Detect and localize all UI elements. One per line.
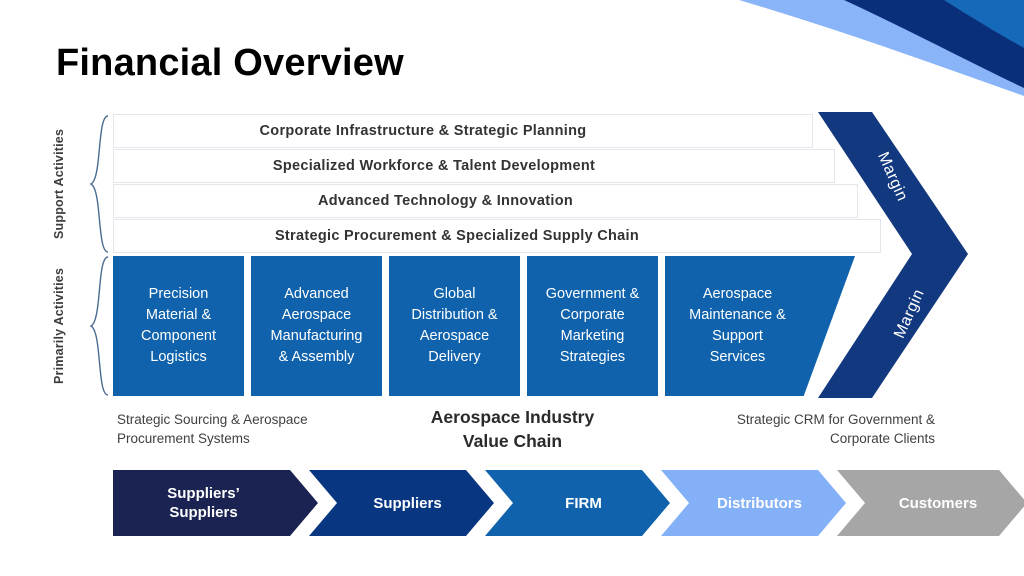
support-activity-row[interactable]: Strategic Procurement & Specialized Supp…	[113, 219, 881, 253]
flow-step-label: FIRM	[491, 494, 676, 513]
support-activity-label: Specialized Workforce & Talent Developme…	[273, 158, 595, 174]
caption-left: Strategic Sourcing & Aerospace Procureme…	[117, 410, 377, 448]
axis-label-primary-activities: Primarily Activities	[52, 256, 70, 396]
primary-activity-box[interactable]: Advanced Aerospace Manufacturing & Assem…	[251, 256, 382, 396]
flow-step-suppliers-suppliers[interactable]: Suppliers’ Suppliers	[113, 470, 318, 536]
brace-support-icon	[88, 114, 110, 254]
page-title: Financial Overview	[56, 40, 404, 86]
flow-step-customers[interactable]: Customers	[837, 470, 1024, 536]
caption-center-title: Aerospace Industry Value Chain	[400, 405, 625, 453]
primary-activity-label: Advanced Aerospace Manufacturing & Assem…	[271, 284, 363, 368]
primary-activity-label: Global Distribution & Aerospace Delivery	[411, 284, 497, 368]
support-activities-group: Corporate Infrastructure & Strategic Pla…	[113, 114, 903, 254]
swoosh-navy-band	[844, 0, 1024, 88]
primary-activities-group: Precision Material & Component Logistics…	[113, 256, 873, 396]
primary-activity-label: Aerospace Maintenance & Support Services	[675, 284, 800, 368]
primary-activity-label: Government & Corporate Marketing Strateg…	[546, 284, 640, 368]
support-activity-label: Advanced Technology & Innovation	[318, 193, 573, 209]
primary-activity-box[interactable]: Precision Material & Component Logistics	[113, 256, 244, 396]
swoosh-light-band	[739, 0, 1024, 96]
swoosh-blue-band	[944, 0, 1024, 48]
axis-label-support-activities: Support Activities	[52, 115, 70, 253]
support-activity-row[interactable]: Advanced Technology & Innovation	[113, 184, 858, 218]
support-activity-label: Corporate Infrastructure & Strategic Pla…	[260, 123, 587, 139]
margin-arrow-icon	[800, 110, 1000, 400]
flow-step-suppliers[interactable]: Suppliers	[309, 470, 494, 536]
support-activity-row[interactable]: Specialized Workforce & Talent Developme…	[113, 149, 835, 183]
slide-canvas: Financial Overview Support Activities Pr…	[0, 0, 1024, 576]
decorative-swoosh	[694, 0, 1024, 115]
caption-right: Strategic CRM for Government & Corporate…	[690, 410, 935, 448]
brace-primary-icon	[88, 255, 110, 397]
flow-step-label: Suppliers	[315, 494, 500, 513]
flow-step-label: Suppliers’ Suppliers	[101, 484, 306, 522]
flow-step-distributors[interactable]: Distributors	[661, 470, 846, 536]
support-activity-label: Strategic Procurement & Specialized Supp…	[275, 228, 639, 244]
flow-step-label: Customers	[843, 494, 1024, 513]
primary-activity-box[interactable]: Government & Corporate Marketing Strateg…	[527, 256, 658, 396]
flow-step-firm[interactable]: FIRM	[485, 470, 670, 536]
flow-step-label: Distributors	[667, 494, 852, 513]
support-activity-row[interactable]: Corporate Infrastructure & Strategic Pla…	[113, 114, 813, 148]
value-chain-flow: Suppliers’ Suppliers Suppliers FIRM Dist…	[113, 470, 968, 536]
primary-activity-box[interactable]: Global Distribution & Aerospace Delivery	[389, 256, 520, 396]
primary-activity-label: Precision Material & Component Logistics	[141, 284, 216, 368]
